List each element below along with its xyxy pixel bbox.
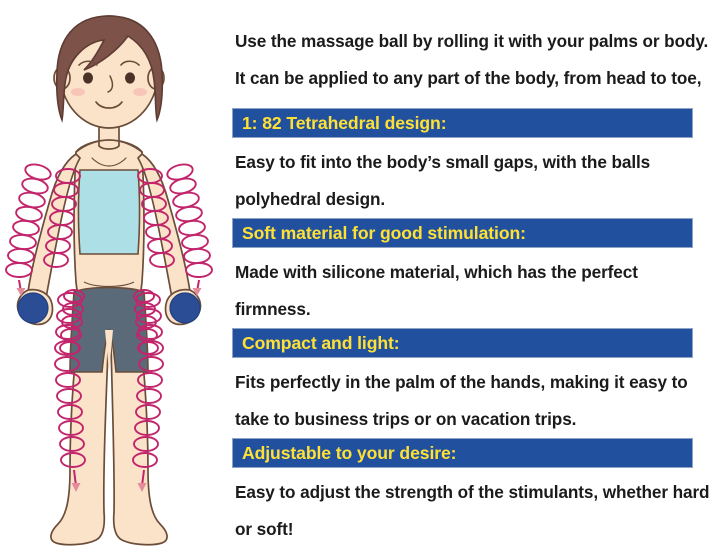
feature-section-4: Adjustable to your desire: Easy to adjus… bbox=[222, 438, 720, 548]
feature-section-2: Soft material for good stimulation: Made… bbox=[222, 218, 720, 328]
feature-body-3: Fits perfectly in the palm of the hands,… bbox=[235, 358, 713, 438]
left-blush bbox=[71, 88, 85, 96]
feature-heading-2: Soft material for good stimulation: bbox=[232, 218, 693, 248]
product-feature-infographic: Use the massage ball by rolling it with … bbox=[0, 0, 720, 557]
feature-body-1: Easy to fit into the body’s small gaps, … bbox=[235, 138, 713, 218]
feature-body-2: Made with silicone material, which has t… bbox=[235, 248, 713, 328]
feature-section-3: Compact and light: Fits perfectly in the… bbox=[222, 328, 720, 438]
right-massage-ball bbox=[170, 293, 200, 323]
feature-text-panel: Use the massage ball by rolling it with … bbox=[222, 0, 720, 557]
right-blush bbox=[133, 88, 147, 96]
left-massage-ball bbox=[18, 293, 48, 323]
massage-ball-usage-illustration bbox=[0, 0, 218, 557]
left-eye bbox=[83, 72, 93, 83]
figure-body bbox=[17, 16, 200, 545]
feature-heading-1: 1: 82 Tetrahedral design: bbox=[232, 108, 693, 138]
right-eye bbox=[125, 72, 135, 83]
feature-body-4: Easy to adjust the strength of the stimu… bbox=[235, 468, 713, 548]
tube-top bbox=[79, 170, 140, 254]
feature-section-1: 1: 82 Tetrahedral design: Easy to fit in… bbox=[222, 108, 720, 218]
feature-heading-3: Compact and light: bbox=[232, 328, 693, 358]
feature-heading-4: Adjustable to your desire: bbox=[232, 438, 693, 468]
feature-sections-list: 1: 82 Tetrahedral design: Easy to fit in… bbox=[222, 108, 720, 548]
